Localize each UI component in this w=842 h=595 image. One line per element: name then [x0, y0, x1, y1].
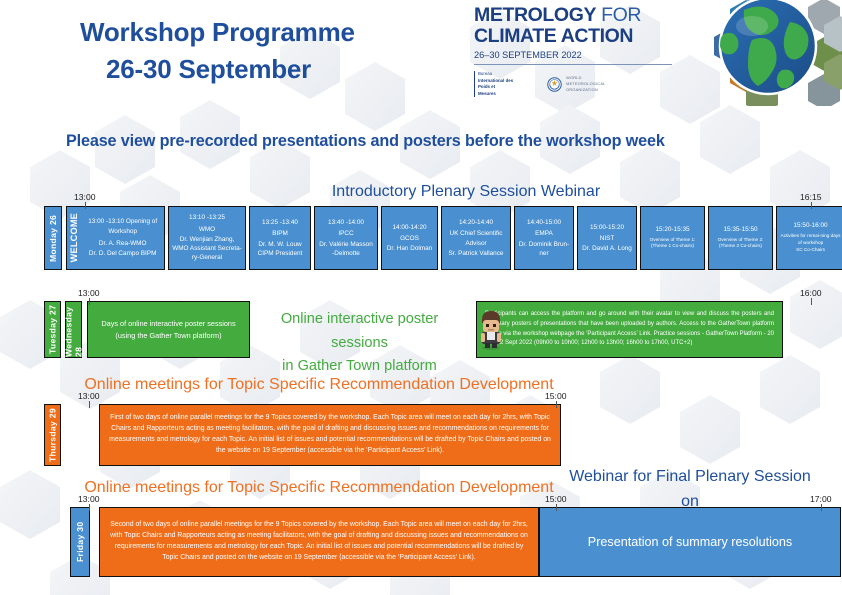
monday-cell-bipm[interactable]: 13:25 -13:40 BIPM Dr. M. W. Louw CIPM Pr…	[249, 206, 311, 270]
session-time: 13:00 -13:10 Opening of Workshop	[84, 217, 162, 236]
day-label-monday: Monday 26	[44, 206, 62, 270]
session-org: Overview of Theme 1: (Theme 1 Co-chairs)	[643, 237, 702, 250]
page-title-line1: Workshop Programme	[80, 14, 460, 51]
wmo-logo: WORLD METEOROLOGICAL ORGANIZATION	[547, 75, 605, 93]
day-label-thursday: Thursday 29	[44, 404, 61, 466]
session-org: BIPM	[272, 229, 288, 238]
tick-tuewed-start-label: 13:00	[78, 288, 100, 298]
logo-metrology-text: METROLOGY	[474, 4, 596, 26]
tick-thursday-end-label: 15:00	[545, 391, 567, 401]
monday-cell-welcome[interactable]: WELCOME 13:00 -13:10 Opening of Workshop…	[66, 206, 165, 270]
monday-cell-wmo[interactable]: 13:10 -13:25 WMO Dr. Wenjian Zhang, WMO …	[168, 206, 246, 270]
session-person: Dr. A. Rea-WMO	[99, 239, 147, 248]
session-time: 14:20-14:40	[459, 218, 493, 227]
session-time: 13:40 -14:00	[328, 218, 364, 227]
session-org: Activities for remai-ning days of worksh…	[779, 233, 842, 246]
tick-friday-start: 13:00	[78, 494, 100, 504]
tick-stem	[89, 504, 90, 511]
tick-monday-end: 16:15	[800, 192, 822, 202]
wmo-seal-icon	[547, 77, 562, 92]
tick-stem	[821, 504, 822, 511]
bipm-line3: Poids et	[478, 84, 513, 91]
monday-row: Monday 26 WELCOME 13:00 -13:10 Opening o…	[44, 206, 842, 270]
session-person: Dr. Dominik Brun-ner	[517, 240, 571, 259]
tick-friday-end: 17:00	[810, 494, 832, 504]
tick-friday-start-label: 13:00	[78, 494, 100, 504]
tick-thursday-start-label: 13:00	[78, 391, 100, 401]
tick-stem	[556, 504, 557, 511]
session-person: Dr. David A. Long	[582, 244, 632, 253]
tick-tuewed-end: 16:00	[800, 288, 822, 298]
session-time: 15:50-16:00	[794, 222, 828, 231]
tick-tuewed-end-label: 16:00	[800, 288, 822, 298]
page-title-line2: 26-30 September	[80, 51, 460, 88]
session-person: Dr. Valérie Masson	[319, 240, 373, 249]
tick-stem	[89, 401, 90, 408]
session-person: Dr. M. W. Louw	[258, 240, 301, 249]
day-label-tuesday: Tuesday 27	[44, 301, 61, 358]
gather-town-heading: Online interactive poster sessions in Ga…	[252, 308, 467, 379]
monday-cell-ipcc[interactable]: 13:40 -14:00 IPCC Dr. Valérie Masson -De…	[314, 206, 378, 270]
friday-section-heading: Online meetings for Topic Specific Recom…	[84, 479, 554, 497]
logo-divider	[474, 64, 672, 65]
tick-friday-end-label: 17:00	[810, 494, 832, 504]
monday-cell-gcos[interactable]: 14:00-14:20 GCOS Dr. Han Dolman	[381, 206, 438, 270]
logo-for-text: FOR	[601, 4, 641, 26]
session-time: 15:20-15:35	[655, 226, 689, 235]
bipm-line1: Bureau	[478, 71, 513, 78]
bipm-line4: Mesures	[478, 91, 513, 98]
gather-town-block[interactable]: Days of online interactive poster sessio…	[87, 301, 250, 358]
wmo-text: WORLD METEOROLOGICAL ORGANIZATION	[566, 75, 605, 93]
friday-note-text: Second of two days of online parallel me…	[100, 516, 538, 568]
tick-thursday-end: 15:00	[545, 391, 567, 401]
tick-stem	[89, 298, 90, 305]
gather-town-note[interactable]: Participants can access the platform and…	[476, 301, 783, 358]
session-org: EMPA	[535, 229, 553, 238]
session-person: Dr. D. Del Campo BIPM	[89, 249, 156, 258]
programme-poster: Workshop Programme 26-30 September METRO…	[0, 0, 842, 595]
monday-cell-empa[interactable]: 14:40-15:00 EMPA Dr. Dominik Brun-ner	[514, 206, 574, 270]
session-time: 15:00-15:20	[590, 223, 624, 232]
session-person: Sr. Patrick Vallance	[449, 249, 504, 258]
session-time: 13:25 -13:40	[262, 218, 298, 227]
gather-town-avatar-icon	[476, 308, 506, 350]
wmo-line3: ORGANIZATION	[566, 87, 605, 93]
session-person: WMO Assistant Secreta-ry-General	[171, 244, 243, 263]
session-org: IPCC	[338, 229, 353, 238]
friday-row: Friday 30 Second of two days of online p…	[70, 507, 841, 577]
session-org: NIST	[600, 234, 615, 243]
session-org: Overview of Theme 2: (Theme 2 Co-chairs)	[711, 237, 770, 250]
tick-stem	[556, 401, 557, 408]
tick-monday-start-label: 13:00	[74, 192, 96, 202]
bipm-logo: Bureau International des Poids et Mesure…	[474, 71, 513, 97]
session-person: Dr. Han Dolman	[387, 244, 432, 253]
friday-note-block[interactable]: Second of two days of online parallel me…	[99, 507, 539, 577]
tick-friday-mid-label: 15:00	[545, 494, 567, 504]
session-org: UK Chief Scientific Advisor	[444, 229, 508, 248]
session-org: GCOS	[400, 234, 419, 243]
logo-dates: 26–30 SEPTEMBER 2022	[474, 50, 674, 60]
session-person: Dr. Wenjian Zhang,	[180, 235, 235, 244]
bipm-line2: International des	[478, 78, 513, 85]
welcome-label: WELCOME	[68, 213, 81, 262]
tick-stem	[811, 202, 812, 209]
gather-town-note-text: Participants can access the platform and…	[477, 305, 782, 354]
thursday-note-block[interactable]: First of two days of online parallel mee…	[99, 404, 561, 466]
day-label-friday: Friday 30	[70, 507, 90, 577]
session-person: CIPM President	[258, 249, 303, 258]
session-person: -Delmotte	[332, 249, 360, 258]
page-title: Workshop Programme 26-30 September	[80, 14, 460, 88]
session-org: WMO	[199, 225, 215, 234]
event-logo: METROLOGYFOR CLIMATE ACTION 26–30 SEPTEM…	[474, 6, 674, 98]
logo-line1: METROLOGYFOR	[474, 6, 674, 26]
thursday-row: Thursday 29 First of two days of online …	[44, 404, 561, 466]
tick-tuewed-start: 13:00	[78, 288, 100, 298]
thursday-section-heading: Online meetings for Topic Specific Recom…	[84, 376, 554, 394]
monday-cell-activities[interactable]: 15:50-16:00 Activities for remai-ning da…	[776, 206, 842, 270]
tick-thursday-start: 13:00	[78, 391, 100, 401]
logo-line2: CLIMATE ACTION	[474, 26, 674, 47]
monday-cell-uk-advisor[interactable]: 14:20-14:40 UK Chief Scientific Advisor …	[441, 206, 511, 270]
gather-town-block-text: Days of online interactive poster sessio…	[88, 314, 249, 345]
tick-stem	[811, 298, 812, 305]
gather-town-heading-line1: Online interactive poster sessions	[252, 308, 467, 355]
session-time: 14:40-15:00	[527, 218, 561, 227]
monday-cell-nist[interactable]: 15:00-15:20 NIST Dr. David A. Long	[577, 206, 637, 270]
session-time: 13:10 -13:25	[189, 213, 225, 222]
tick-stem	[85, 202, 86, 209]
thursday-note-text: First of two days of online parallel mee…	[100, 409, 560, 461]
friday-resolutions-text: Presentation of summary resolutions	[581, 531, 799, 553]
day-label-wednesday: Wednesday 28	[65, 301, 82, 358]
friday-resolutions-block[interactable]: Presentation of summary resolutions	[539, 507, 841, 577]
logo-organisations: Bureau International des Poids et Mesure…	[474, 71, 674, 97]
tick-friday-mid: 15:00	[545, 494, 567, 504]
monday-cell-theme2[interactable]: 15:35-15:50 Overview of Theme 2: (Theme …	[708, 206, 773, 270]
monday-section-heading: Introductory Plenary Session Webinar	[306, 183, 626, 201]
session-person: SC Co-Chairs	[796, 247, 825, 254]
tick-monday-start: 13:00	[74, 192, 96, 202]
tick-monday-end-label: 16:15	[800, 192, 822, 202]
session-time: 15:35-15:50	[723, 226, 757, 235]
subtitle: Please view pre-recorded presentations a…	[66, 132, 786, 151]
session-time: 14:00-14:20	[392, 223, 426, 232]
monday-cell-theme1[interactable]: 15:20-15:35 Overview of Theme 1: (Theme …	[640, 206, 705, 270]
